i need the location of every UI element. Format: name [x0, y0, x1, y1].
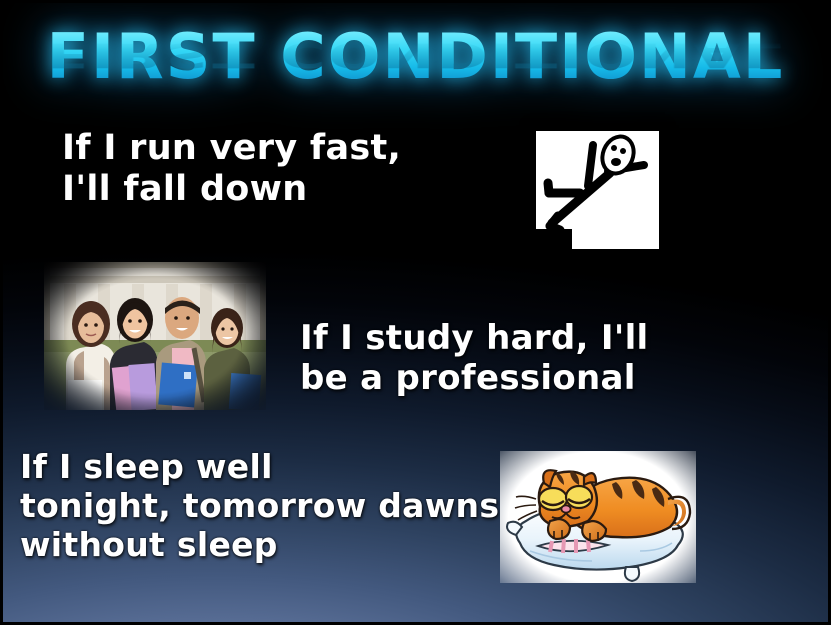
slide-canvas: FIRST CONDITIONAL FIRST CONDITIONAL If I… — [0, 0, 831, 625]
example-text-study-professional: If I study hard, I'll be a professional — [300, 318, 755, 398]
falling-stick-figure-image — [536, 131, 659, 249]
falling-stick-figure-graphic — [536, 131, 659, 249]
example-text-run-fall: If I run very fast, I'll fall down — [62, 128, 401, 211]
sleeping-cat-graphic — [500, 451, 696, 583]
students-photo-image — [44, 262, 266, 410]
example-text-sleep-dawn: If I sleep well tonight, tomorrow dawns … — [20, 448, 499, 565]
students-photo-graphic — [44, 262, 266, 410]
sleeping-cat-image — [500, 451, 696, 583]
